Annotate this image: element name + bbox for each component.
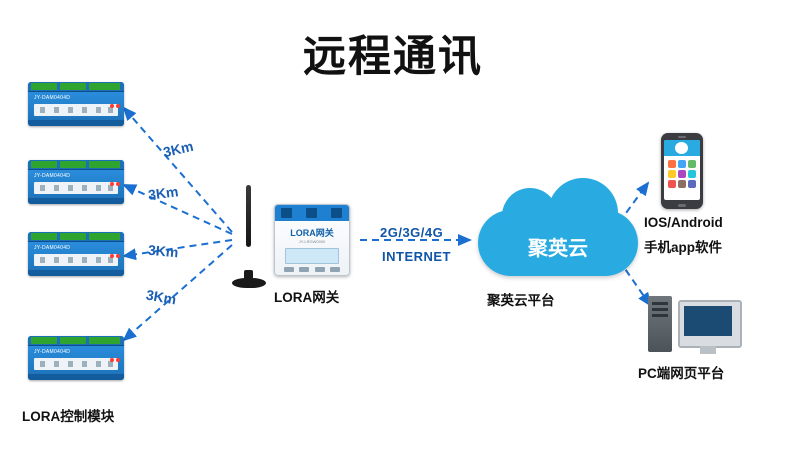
module-leds bbox=[108, 349, 120, 367]
lora-module-1[interactable]: JY-DAM0404D bbox=[28, 82, 124, 126]
distance-label-1: 3Km bbox=[162, 138, 195, 160]
mobile-phone-device[interactable] bbox=[661, 133, 703, 209]
cloud-label: 聚英云平台 bbox=[487, 289, 555, 309]
network-type-label: 2G/3G/4G bbox=[380, 225, 443, 240]
phone-home-button[interactable] bbox=[678, 204, 686, 207]
module-leds bbox=[108, 173, 120, 191]
pc-monitor-stand bbox=[700, 346, 716, 354]
module-bottom-strip bbox=[28, 374, 124, 380]
module-chip bbox=[34, 358, 118, 370]
module-chip bbox=[34, 182, 118, 194]
module-brand-label: JY-DAM0404D bbox=[34, 349, 70, 355]
module-body: JY-DAM0404D bbox=[28, 92, 124, 126]
internet-label: INTERNET bbox=[382, 249, 451, 264]
phone-app-label-line1: IOS/Android bbox=[644, 215, 723, 230]
module-terminal-strip bbox=[28, 160, 124, 170]
cloud-platform[interactable]: 聚英云 bbox=[478, 210, 638, 276]
module-bottom-strip bbox=[28, 120, 124, 126]
module-leds bbox=[108, 95, 120, 113]
distance-label-4: 3Km bbox=[145, 286, 178, 307]
module-bottom-strip bbox=[28, 198, 124, 204]
antenna-joint bbox=[244, 270, 253, 286]
lora-module-3[interactable]: JY-DAM0404D bbox=[28, 232, 124, 276]
app-avatar-icon bbox=[675, 142, 688, 154]
module-brand-label: JY-DAM0404D bbox=[34, 245, 70, 251]
module-bottom-strip bbox=[28, 270, 124, 276]
pc-tower[interactable] bbox=[648, 296, 672, 352]
app-icon-grid bbox=[664, 156, 700, 192]
lora-modules-label: LORA控制模块 bbox=[22, 405, 114, 425]
module-brand-label: JY-DAM0404D bbox=[34, 173, 70, 179]
lora-module-2[interactable]: JY-DAM0404D bbox=[28, 160, 124, 204]
module-chip bbox=[34, 104, 118, 116]
module-brand-label: JY-DAM0404D bbox=[34, 95, 70, 101]
pc-monitor[interactable] bbox=[678, 300, 742, 348]
distance-label-2: 3Km bbox=[147, 183, 179, 203]
lora-gateway-device[interactable]: LORA网关 JY-LRGW0000 bbox=[274, 204, 350, 276]
distance-label-3: 3Km bbox=[147, 242, 179, 261]
module-body: JY-DAM0404D bbox=[28, 170, 124, 204]
app-header bbox=[664, 140, 700, 156]
phone-speaker bbox=[678, 136, 686, 138]
module-leds bbox=[108, 245, 120, 263]
cloud-name: 聚英云 bbox=[478, 232, 638, 261]
module-terminal-strip bbox=[28, 82, 124, 92]
page-title: 远程通讯 bbox=[0, 22, 786, 84]
pc-platform-label: PC端网页平台 bbox=[638, 362, 724, 382]
gateway-screen bbox=[285, 248, 339, 264]
lora-module-4[interactable]: JY-DAM0404D bbox=[28, 336, 124, 380]
phone-app-label-line2: 手机app软件 bbox=[644, 236, 722, 256]
antenna-icon bbox=[246, 185, 251, 247]
gateway-device-title: LORA网关 bbox=[275, 226, 349, 239]
gateway-label: LORA网关 bbox=[274, 286, 339, 306]
module-chip bbox=[34, 254, 118, 266]
gateway-ports bbox=[275, 205, 349, 221]
phone-screen bbox=[664, 140, 700, 200]
module-terminal-strip bbox=[28, 336, 124, 346]
module-terminal-strip bbox=[28, 232, 124, 242]
gateway-device-sub: JY-LRGW0000 bbox=[275, 239, 349, 244]
module-body: JY-DAM0404D bbox=[28, 346, 124, 380]
pc-screen bbox=[684, 306, 732, 336]
gateway-buttons[interactable] bbox=[284, 267, 340, 272]
module-body: JY-DAM0404D bbox=[28, 242, 124, 276]
